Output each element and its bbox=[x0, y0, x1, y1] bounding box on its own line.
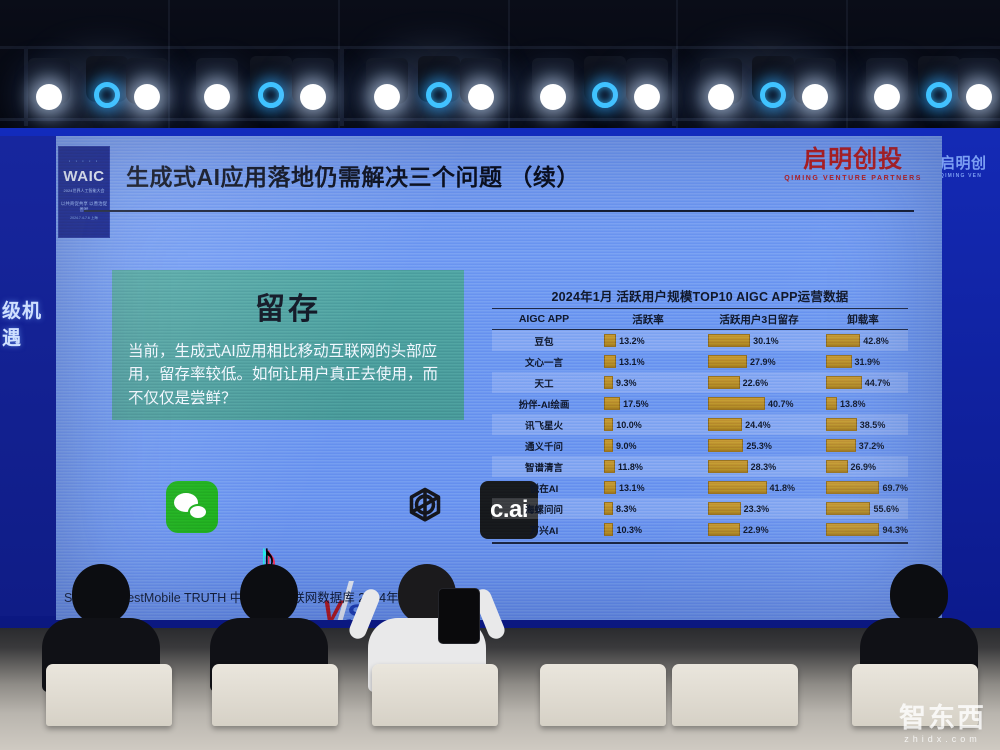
bar bbox=[708, 418, 742, 431]
stage-light bbox=[626, 58, 668, 104]
bar-cell-活跃率: 11.8% bbox=[596, 456, 700, 477]
bar-cell-活跃用户3日留存: 24.4% bbox=[700, 414, 818, 435]
bar bbox=[604, 334, 616, 347]
openai-logo-icon bbox=[398, 481, 452, 535]
retention-callout-box: 留存 当前，生成式AI应用相比移动互联网的头部应用，留存率较低。如何让用户真正去… bbox=[112, 270, 464, 420]
bar-value-label: 37.2% bbox=[859, 441, 885, 451]
right-led-panel: 启明创 QIMING VEN bbox=[940, 128, 1000, 628]
bar-cell-活跃用户3日留存: 23.3% bbox=[700, 498, 818, 519]
bar-value-label: 13.1% bbox=[619, 483, 645, 493]
bar-value-label: 11.8% bbox=[618, 462, 643, 472]
table-row: 扮伴-AI绘画17.5%40.7%13.8% bbox=[492, 393, 908, 414]
led-screen: 级机遇 启明创 QIMING VEN ' ' ' ' ' WAIC 2024世界… bbox=[0, 128, 1000, 628]
bar bbox=[604, 418, 613, 431]
bar-value-label: 22.6% bbox=[743, 378, 769, 388]
table-row: 天工9.3%22.6%44.7% bbox=[492, 372, 908, 393]
bar-cell-活跃用户3日留存: 25.3% bbox=[700, 435, 818, 456]
bar bbox=[826, 523, 879, 536]
bar-cell-活跃用户3日留存: 22.6% bbox=[700, 372, 818, 393]
col-header-app: AIGC APP bbox=[492, 313, 596, 325]
table-header-row: AIGC APP 活跃率 活跃用户3日留存 卸载率 bbox=[492, 308, 908, 330]
table-row: 海螺问问8.3%23.3%55.6% bbox=[492, 498, 908, 519]
bar-value-label: 13.8% bbox=[840, 399, 866, 409]
bar-cell-活跃用户3日留存: 28.3% bbox=[700, 456, 818, 477]
bar bbox=[826, 439, 856, 452]
chart-title: 2024年1月 活跃用户规模TOP10 AIGC APP运营数据 bbox=[492, 286, 908, 305]
bar-value-label: 25.3% bbox=[746, 441, 772, 451]
bar bbox=[604, 460, 615, 473]
bar-value-label: 31.9% bbox=[855, 357, 881, 367]
bar-cell-卸载率: 44.7% bbox=[818, 372, 908, 393]
bar bbox=[604, 481, 616, 494]
bar-value-label: 23.3% bbox=[744, 504, 770, 514]
callout-body: 当前，生成式AI应用相比移动互联网的头部应用，留存率较低。如何让用户真正去使用，… bbox=[128, 340, 448, 410]
stage-light bbox=[794, 58, 836, 104]
qiming-logo-en: QIMING VENTURE PARTNERS bbox=[784, 175, 922, 182]
app-name-cell: 智谱清言 bbox=[492, 460, 596, 474]
presentation-slide: ' ' ' ' ' WAIC 2024世界人工智能大会 以共商促共享 以善治促善… bbox=[56, 136, 942, 620]
bar bbox=[604, 502, 613, 515]
bar-value-label: 9.3% bbox=[616, 378, 637, 388]
bar-cell-活跃用户3日留存: 27.9% bbox=[700, 351, 818, 372]
stage-light bbox=[700, 58, 742, 104]
left-led-panel: 级机遇 bbox=[0, 136, 56, 616]
bar bbox=[826, 418, 857, 431]
bar-cell-卸载率: 42.8% bbox=[818, 330, 908, 351]
bar-cell-活跃率: 13.1% bbox=[596, 477, 700, 498]
stage-light bbox=[126, 58, 168, 104]
table-row: 豆包13.2%30.1%42.8% bbox=[492, 330, 908, 351]
bar-cell-活跃率: 10.3% bbox=[596, 519, 700, 540]
waic-line4: 2024.7.4-7.6 上海 bbox=[59, 216, 109, 221]
callout-heading: 留存 bbox=[112, 284, 464, 328]
stage-light bbox=[460, 58, 502, 104]
stage-light-ring bbox=[250, 56, 292, 102]
bar-cell-活跃率: 13.1% bbox=[596, 351, 700, 372]
bar bbox=[708, 397, 765, 410]
bar bbox=[826, 355, 852, 368]
stage-light bbox=[866, 58, 908, 104]
stage-light-ring bbox=[752, 56, 794, 102]
waic-dots: ' ' ' ' ' bbox=[59, 161, 109, 167]
app-name-cell: 悦在AI bbox=[492, 481, 596, 495]
bar bbox=[826, 376, 862, 389]
bar-value-label: 94.3% bbox=[882, 525, 908, 535]
stage-light-ring bbox=[918, 56, 960, 102]
bar-cell-卸载率: 31.9% bbox=[818, 351, 908, 372]
bar bbox=[604, 523, 613, 536]
waic-conference-logo: ' ' ' ' ' WAIC 2024世界人工智能大会 以共商促共享 以善治促善… bbox=[58, 146, 110, 238]
ceiling-truss bbox=[0, 0, 1000, 132]
app-name-cell: 讯飞星火 bbox=[492, 418, 596, 432]
table-row: 悦在AI13.1%41.8%69.7% bbox=[492, 477, 908, 498]
stage-light bbox=[366, 58, 408, 104]
aigc-data-table: AIGC APP 活跃率 活跃用户3日留存 卸载率 豆包13.2%30.1%42… bbox=[492, 308, 908, 540]
bar bbox=[826, 502, 870, 515]
bar-value-label: 8.3% bbox=[616, 504, 637, 514]
table-row: 通义千问9.0%25.3%37.2% bbox=[492, 435, 908, 456]
bar-cell-活跃用户3日留存: 22.9% bbox=[700, 519, 818, 540]
bar-value-label: 10.0% bbox=[616, 420, 642, 430]
bar-cell-活跃率: 9.3% bbox=[596, 372, 700, 393]
stage-light-ring bbox=[86, 56, 128, 102]
app-name-cell: 豆包 bbox=[492, 334, 596, 348]
bar bbox=[708, 376, 740, 389]
bar-cell-活跃率: 17.5% bbox=[596, 393, 700, 414]
app-name-cell: 天工 bbox=[492, 376, 596, 390]
app-name-cell: 扮伴-AI绘画 bbox=[492, 397, 596, 411]
stage-light bbox=[28, 58, 70, 104]
watermark-en: zhidx.com bbox=[899, 734, 986, 744]
app-name-cell: 海螺问问 bbox=[492, 502, 596, 516]
app-logo-row: ♪♪♪ VS c.ai bbox=[166, 481, 496, 543]
app-name-cell: 文心一言 bbox=[492, 355, 596, 369]
bar bbox=[826, 481, 879, 494]
bar bbox=[826, 460, 848, 473]
waic-wordmark: WAIC bbox=[59, 168, 109, 185]
bar bbox=[708, 355, 747, 368]
bar-value-label: 22.9% bbox=[743, 525, 769, 535]
bar bbox=[708, 439, 743, 452]
bar bbox=[708, 502, 741, 515]
bar bbox=[826, 334, 860, 347]
bar bbox=[604, 355, 616, 368]
bar bbox=[708, 334, 750, 347]
bar bbox=[708, 481, 767, 494]
qiming-logo-cn: 启明创投 bbox=[784, 148, 922, 172]
col-header-uninstall: 卸载率 bbox=[818, 312, 908, 327]
table-row: 讯飞星火10.0%24.4%38.5% bbox=[492, 414, 908, 435]
bar-value-label: 13.1% bbox=[619, 357, 645, 367]
bar-cell-活跃率: 8.3% bbox=[596, 498, 700, 519]
stage-light bbox=[532, 58, 574, 104]
bar bbox=[826, 397, 837, 410]
bar-cell-活跃率: 10.0% bbox=[596, 414, 700, 435]
col-header-retention: 活跃用户3日留存 bbox=[700, 312, 818, 327]
watermark-cn: 智东西 bbox=[899, 705, 986, 732]
bar bbox=[604, 397, 620, 410]
stage-light-ring bbox=[584, 56, 626, 102]
waic-line1: 2024世界人工智能大会 bbox=[59, 188, 109, 194]
bar-value-label: 44.7% bbox=[865, 378, 891, 388]
slide-title: 生成式AI应用落地仍需解决三个问题 （续） bbox=[126, 158, 580, 192]
chair bbox=[46, 664, 172, 726]
bar-value-label: 26.9% bbox=[851, 462, 877, 472]
stage-light bbox=[292, 58, 334, 104]
bar-cell-活跃用户3日留存: 40.7% bbox=[700, 393, 818, 414]
table-row: 智谱清言11.8%28.3%26.9% bbox=[492, 456, 908, 477]
bar-value-label: 69.7% bbox=[882, 483, 908, 493]
bar-cell-活跃率: 9.0% bbox=[596, 435, 700, 456]
qiming-venture-logo: 启明创投 QIMING VENTURE PARTNERS bbox=[784, 148, 922, 182]
stage-light bbox=[196, 58, 238, 104]
aigc-data-panel: 2024年1月 活跃用户规模TOP10 AIGC APP运营数据 AIGC AP… bbox=[492, 286, 908, 554]
stage-light-ring bbox=[418, 56, 460, 102]
bar-value-label: 42.8% bbox=[863, 336, 889, 346]
bar-cell-活跃率: 13.2% bbox=[596, 330, 700, 351]
chair bbox=[672, 664, 798, 726]
phone-held-up bbox=[438, 588, 480, 644]
bar-cell-卸载率: 13.8% bbox=[818, 393, 908, 414]
title-divider bbox=[84, 210, 914, 212]
bar-value-label: 55.6% bbox=[873, 504, 899, 514]
table-row: 文心一言13.1%27.9%31.9% bbox=[492, 351, 908, 372]
chair bbox=[540, 664, 666, 726]
bar-value-label: 27.9% bbox=[750, 357, 776, 367]
bar-cell-活跃用户3日留存: 30.1% bbox=[700, 330, 818, 351]
bar-cell-卸载率: 38.5% bbox=[818, 414, 908, 435]
bar-value-label: 10.3% bbox=[616, 525, 642, 535]
bar-value-label: 24.4% bbox=[745, 420, 771, 430]
zhidx-watermark: 智东西 zhidx.com bbox=[899, 705, 986, 744]
bar bbox=[604, 376, 613, 389]
chair bbox=[212, 664, 338, 726]
right-panel-qiming-logo: 启明创 QIMING VEN bbox=[940, 152, 998, 179]
bar-cell-卸载率: 37.2% bbox=[818, 435, 908, 456]
left-panel-text: 级机遇 bbox=[2, 296, 56, 350]
col-header-active-rate: 活跃率 bbox=[596, 312, 700, 327]
bar-cell-卸载率: 26.9% bbox=[818, 456, 908, 477]
bar-cell-卸载率: 94.3% bbox=[818, 519, 908, 540]
bar-value-label: 38.5% bbox=[860, 420, 886, 430]
bar-cell-活跃用户3日留存: 41.8% bbox=[700, 477, 818, 498]
bar-value-label: 13.2% bbox=[619, 336, 645, 346]
bar-value-label: 30.1% bbox=[753, 336, 779, 346]
bar bbox=[708, 460, 748, 473]
stage-light bbox=[958, 58, 1000, 104]
bar-cell-卸载率: 55.6% bbox=[818, 498, 908, 519]
bar bbox=[604, 439, 613, 452]
bar-value-label: 41.8% bbox=[770, 483, 796, 493]
right-panel-logo-cn: 启明创 bbox=[940, 155, 987, 172]
bar-value-label: 40.7% bbox=[768, 399, 794, 409]
app-name-cell: 万兴AI bbox=[492, 523, 596, 537]
bar-value-label: 9.0% bbox=[616, 441, 637, 451]
conference-stage-photo: 级机遇 启明创 QIMING VEN ' ' ' ' ' WAIC 2024世界… bbox=[0, 0, 1000, 750]
chair bbox=[372, 664, 498, 726]
app-name-cell: 通义千问 bbox=[492, 439, 596, 453]
bar bbox=[708, 523, 740, 536]
wechat-logo-icon bbox=[166, 481, 218, 533]
bar-value-label: 28.3% bbox=[751, 462, 777, 472]
table-row: 万兴AI10.3%22.9%94.3% bbox=[492, 519, 908, 540]
bar-value-label: 17.5% bbox=[623, 399, 649, 409]
bar-cell-卸载率: 69.7% bbox=[818, 477, 908, 498]
right-panel-logo-en: QIMING VEN bbox=[940, 173, 998, 179]
